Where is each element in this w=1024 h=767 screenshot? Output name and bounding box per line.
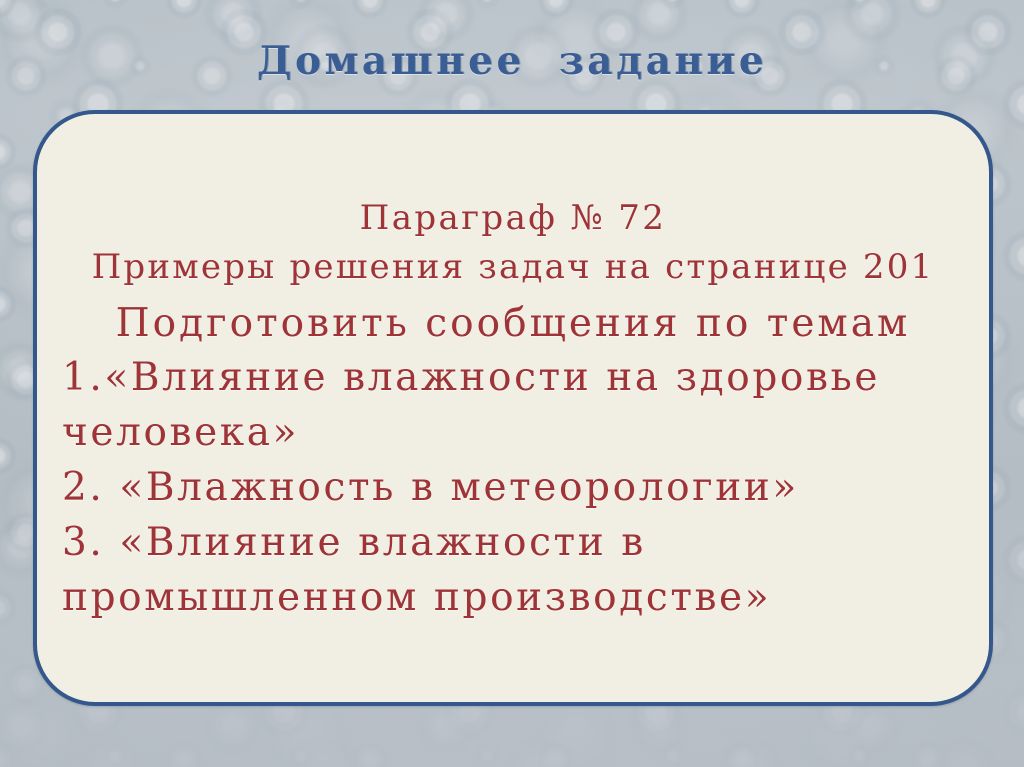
topic-1-line-2: человека»	[62, 410, 299, 456]
topic-3-line-2: промышленном производстве»	[62, 575, 771, 621]
prepare-topics-line: Подготовить сообщения по темам	[37, 301, 989, 347]
slide-canvas: Домашнее задание Параграф № 72 Примеры р…	[0, 0, 1024, 767]
examples-page-line: Примеры решения задач на странице 201	[37, 247, 989, 287]
topic-1-line-1: 1.«Влияние влажности на здоровье	[62, 355, 880, 401]
slide-title: Домашнее задание	[0, 38, 1024, 84]
homework-card: Параграф № 72 Примеры решения задач на с…	[33, 110, 993, 706]
topic-3-line-1: 3. «Влияние влажности в	[62, 520, 646, 566]
paragraph-reference-line: Параграф № 72	[37, 198, 989, 238]
topic-2-line: 2. «Влажность в метеорологии»	[62, 465, 799, 511]
homework-card-body: Параграф № 72 Примеры решения задач на с…	[37, 114, 989, 702]
